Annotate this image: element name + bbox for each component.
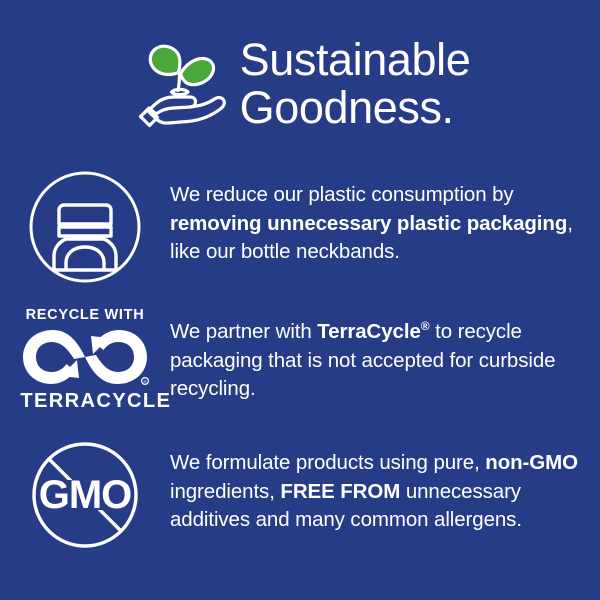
feature-text-plastic: We reduce our plastic consumption by rem… — [170, 168, 600, 267]
terracycle-top-text: RECYCLE WITH — [19, 307, 151, 323]
text-part-bold: FREE FROM — [280, 480, 400, 503]
feature-icon-slot: RECYCLE WITH R TERRACYCLE — [0, 303, 170, 412]
hand-holding-sprout-icon — [130, 32, 234, 136]
feature-row-plastic: We reduce our plastic consumption by rem… — [0, 168, 600, 286]
infinity-recycle-loop-icon: R — [19, 326, 151, 388]
registered-trademark-symbol: ® — [421, 319, 430, 333]
text-part: We formulate products using pure, — [170, 451, 485, 474]
terracycle-logo: RECYCLE WITH R TERRACYCLE — [19, 305, 151, 412]
page-title-line-2: Goodness. — [240, 84, 471, 132]
feature-row-gmo: GMO We formulate products using pure, no… — [0, 436, 600, 566]
feature-text-gmo: We formulate products using pure, non-GM… — [170, 436, 600, 535]
bottle-in-circle-icon — [28, 170, 142, 289]
text-part-bold: removing unnecessary plastic packaging — [170, 212, 567, 235]
no-gmo-icon-label: GMO — [39, 473, 132, 517]
feature-row-terracycle: RECYCLE WITH R TERRACYCLE We partner wit… — [0, 303, 600, 421]
feature-text-terracycle: We partner with TerraCycle® to recycle p… — [170, 303, 600, 404]
page-title: Sustainable Goodness. — [240, 36, 471, 132]
terracycle-bottom-text: TERRACYCLE — [20, 390, 149, 412]
feature-icon-slot: GMO — [0, 436, 170, 557]
feature-icon-slot — [0, 168, 170, 289]
text-part-bold: non-GMO — [485, 451, 578, 474]
page-title-line-1: Sustainable — [240, 36, 471, 84]
text-part: We reduce our plastic consumption by — [170, 183, 514, 206]
text-part: We partner with — [170, 320, 317, 343]
text-part: ingredients, — [170, 480, 280, 503]
text-part-bold: TerraCycle — [317, 320, 420, 343]
no-gmo-icon: GMO — [28, 438, 142, 557]
header-banner: Sustainable Goodness. — [0, 24, 600, 144]
